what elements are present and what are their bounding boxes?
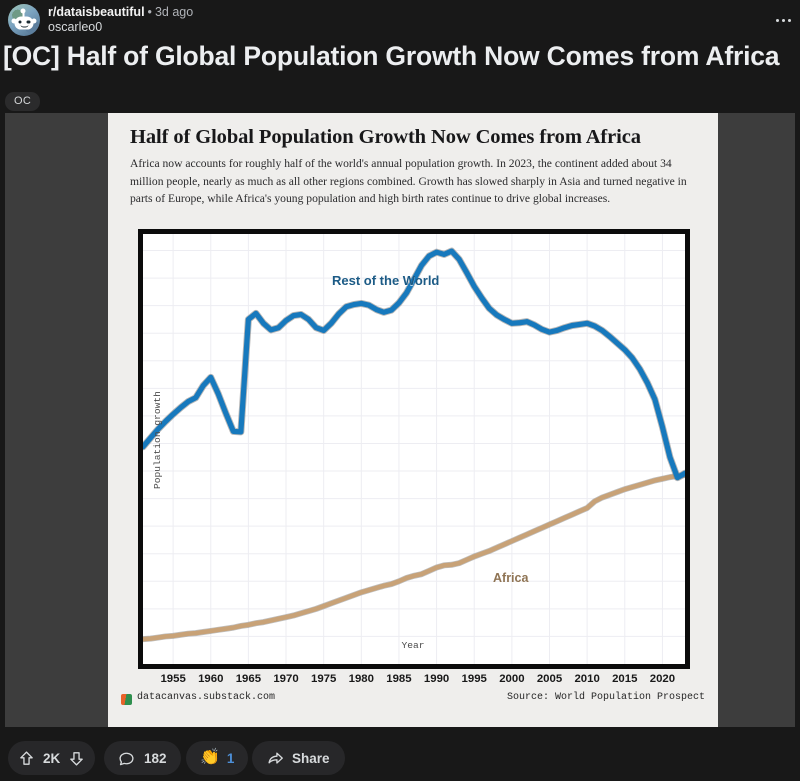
- award-count: 1: [227, 751, 235, 766]
- share-arrow-icon: [267, 750, 284, 767]
- footer-source-site[interactable]: datacanvas.substack.com: [137, 692, 275, 703]
- chart-footer: datacanvas.substack.com Source: World Po…: [108, 691, 718, 715]
- x-tick-label: 2015: [612, 673, 637, 685]
- reddit-post-view: r/dataisbeautiful•3d ago oscarleo0 [OC] …: [0, 0, 800, 781]
- x-tick-label: 2010: [574, 673, 599, 685]
- subreddit-line: r/dataisbeautiful•3d ago: [48, 5, 193, 20]
- x-tick-label: 2000: [499, 673, 524, 685]
- post-media[interactable]: Half of Global Population Growth Now Com…: [5, 113, 795, 727]
- gold-award-icon: 👏: [200, 750, 220, 766]
- subreddit-avatar-icon[interactable]: [8, 4, 40, 36]
- x-axis-title: Year: [108, 640, 718, 651]
- y-axis-title: Population growth: [152, 391, 163, 489]
- substack-logo-icon: [121, 694, 132, 705]
- subreddit-name[interactable]: r/dataisbeautiful: [48, 5, 145, 19]
- post-header: r/dataisbeautiful•3d ago oscarleo0: [0, 0, 800, 38]
- x-tick-label: 1955: [160, 673, 185, 685]
- upvote-arrow-icon[interactable]: [18, 750, 35, 767]
- chart-description: Africa now accounts for roughly half of …: [130, 155, 690, 208]
- chart-svg: [143, 234, 685, 664]
- series-line-africa: [143, 475, 685, 639]
- comments-button[interactable]: 182: [104, 741, 181, 775]
- separator-dot: •: [145, 5, 155, 19]
- x-tick-label: 1985: [386, 673, 411, 685]
- comment-count: 182: [144, 751, 167, 766]
- x-tick-label: 1975: [311, 673, 336, 685]
- post-age: 3d ago: [155, 5, 193, 19]
- x-tick-label: 2020: [650, 673, 675, 685]
- snoo-icon: [14, 12, 35, 29]
- series-label-africa: Africa: [493, 571, 528, 585]
- footer-data-source: Source: World Population Prospect: [507, 692, 705, 703]
- chart-gridlines: [143, 234, 685, 664]
- x-axis-tick-labels: 1955196019651970197519801985199019952000…: [138, 673, 690, 693]
- x-tick-label: 1970: [273, 673, 298, 685]
- series-label-rest-of-world: Rest of the World: [332, 273, 439, 288]
- comment-bubble-icon: [118, 750, 135, 767]
- post-author[interactable]: oscarleo0: [48, 20, 102, 35]
- chart-card: Half of Global Population Growth Now Com…: [108, 113, 718, 727]
- x-tick-label: 1995: [462, 673, 487, 685]
- post-flair-oc[interactable]: OC: [5, 92, 40, 111]
- x-tick-label: 1960: [198, 673, 223, 685]
- chart-plot-area: [138, 229, 690, 669]
- vote-pill: 2K: [8, 741, 95, 775]
- x-tick-label: 1980: [349, 673, 374, 685]
- downvote-arrow-icon[interactable]: [68, 750, 85, 767]
- x-tick-label: 1965: [236, 673, 261, 685]
- page-title[interactable]: [OC] Half of Global Population Growth No…: [3, 38, 797, 74]
- chart-title: Half of Global Population Growth Now Com…: [130, 126, 696, 149]
- x-tick-label: 2005: [537, 673, 562, 685]
- share-button[interactable]: Share: [252, 741, 345, 775]
- post-action-bar: 2K 182 👏 1 Sh: [0, 735, 800, 781]
- overflow-menu-icon[interactable]: [770, 10, 796, 30]
- share-label: Share: [292, 751, 330, 766]
- x-tick-label: 1990: [424, 673, 449, 685]
- award-button[interactable]: 👏 1: [186, 741, 248, 775]
- vote-score: 2K: [43, 751, 60, 766]
